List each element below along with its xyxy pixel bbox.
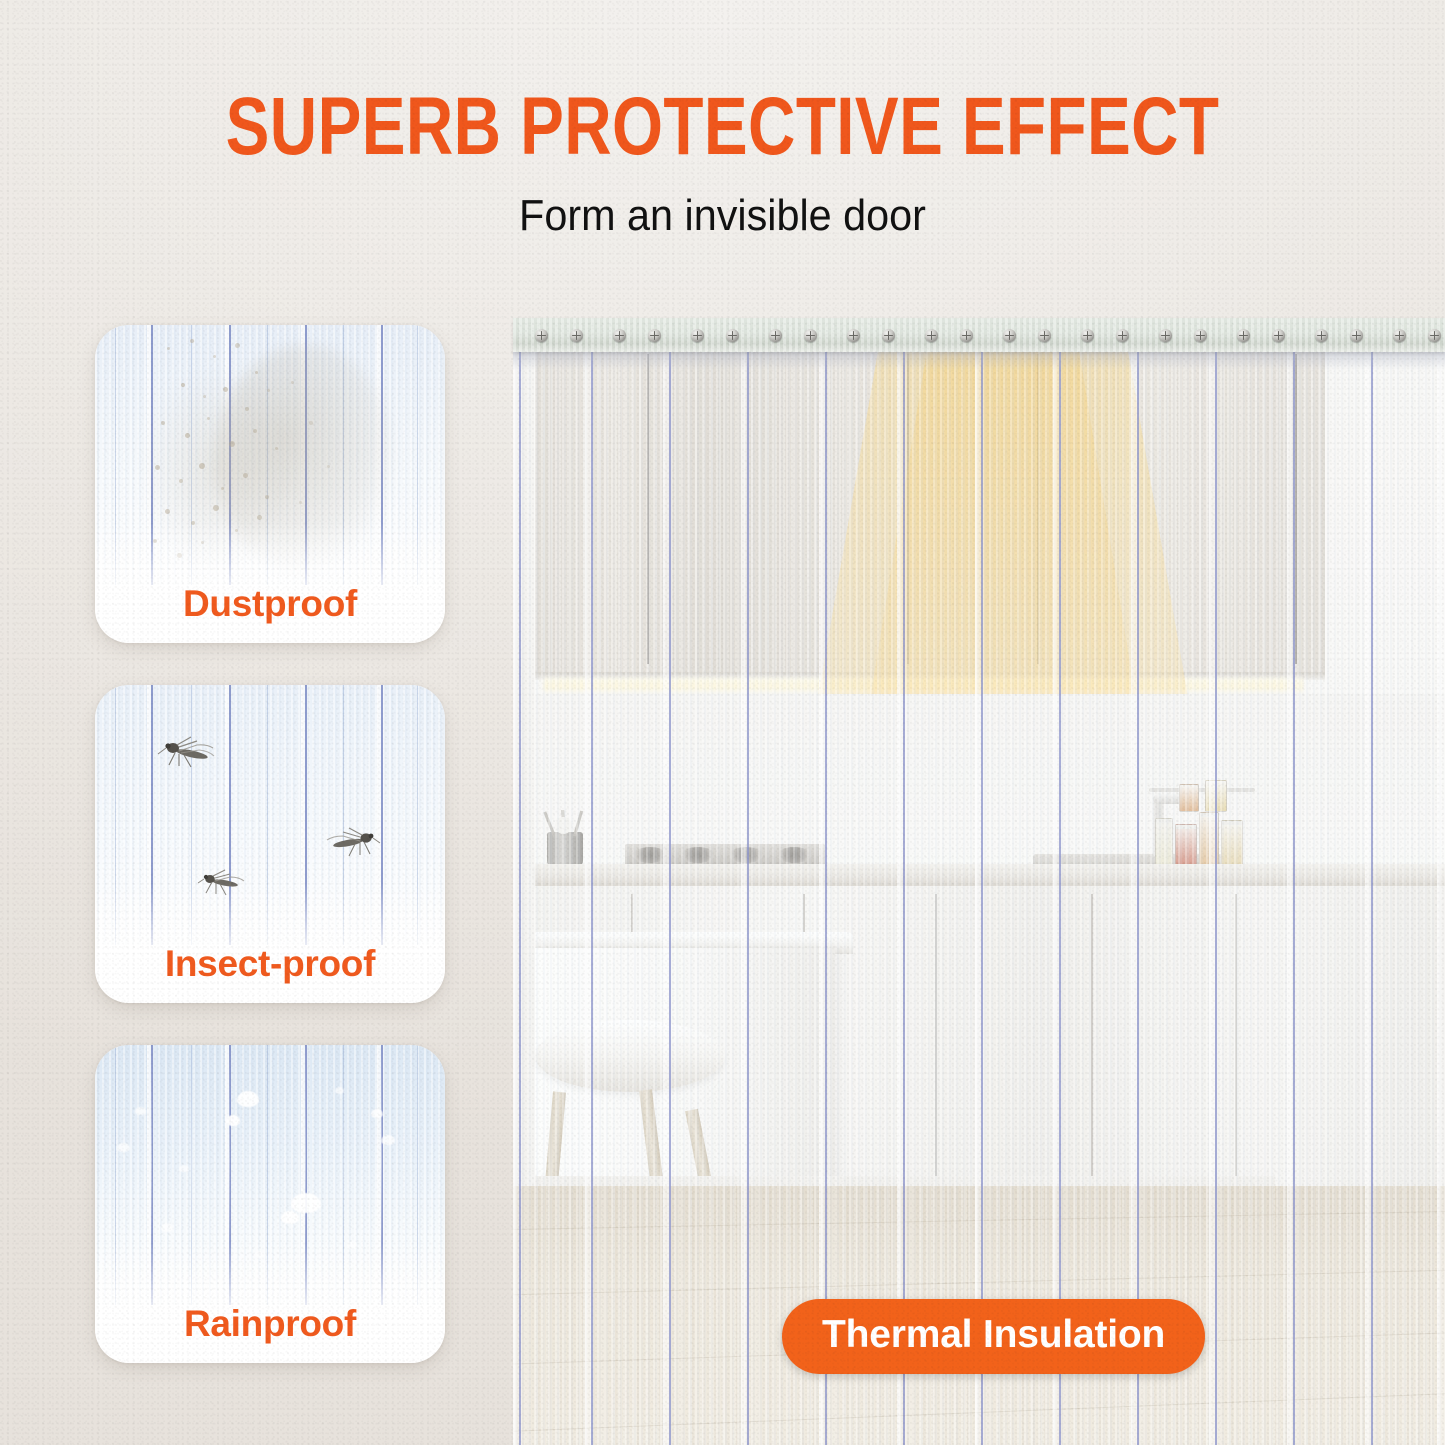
kitchen-scene	[513, 320, 1445, 1445]
rail-shadow	[513, 352, 1445, 370]
header: SUPERB PROTECTIVE EFFECT Form an invisib…	[0, 0, 1445, 290]
feature-card-list: Dustproof	[95, 325, 445, 1405]
feature-card-label-rainproof: Rainproof	[95, 1303, 445, 1345]
screw-icon	[1194, 329, 1207, 342]
kitchen-room	[513, 320, 1445, 1445]
screw-icon	[1081, 329, 1094, 342]
mosquito-icon	[323, 825, 381, 859]
screw-icon	[804, 329, 817, 342]
screw-icon	[769, 329, 782, 342]
mounting-rail	[513, 318, 1445, 352]
feature-card-rainproof[interactable]: Rainproof	[95, 1045, 445, 1363]
screw-icon	[1315, 329, 1328, 342]
screw-icon	[1003, 329, 1016, 342]
screw-icon	[1393, 329, 1406, 342]
screw-icon	[960, 329, 973, 342]
screw-icon	[691, 329, 704, 342]
utensil-holder	[543, 814, 587, 866]
screw-icon	[847, 329, 860, 342]
mosquito-icon	[157, 735, 217, 769]
screw-icon	[570, 329, 583, 342]
screw-icon	[882, 329, 895, 342]
screw-icon	[613, 329, 626, 342]
backsplash	[535, 694, 1445, 864]
thermal-insulation-badge[interactable]: Thermal Insulation	[782, 1299, 1205, 1374]
screw-icon	[1272, 329, 1285, 342]
feature-card-insect-proof[interactable]: Insect-proof	[95, 685, 445, 1003]
screw-icon	[535, 329, 548, 342]
screw-icon	[1116, 329, 1129, 342]
screw-icon	[726, 329, 739, 342]
screw-icon	[1428, 329, 1441, 342]
page-title: SUPERB PROTECTIVE EFFECT	[145, 0, 1301, 167]
screw-icon	[648, 329, 661, 342]
screw-icon	[1159, 329, 1172, 342]
feature-card-label-insect-proof: Insect-proof	[95, 943, 445, 985]
screw-icon	[1038, 329, 1051, 342]
feature-card-dustproof[interactable]: Dustproof	[95, 325, 445, 643]
gas-hob	[625, 844, 825, 866]
screw-icon	[925, 329, 938, 342]
feature-card-label-dustproof: Dustproof	[95, 583, 445, 625]
screw-icon	[1237, 329, 1250, 342]
stool-seat	[535, 1020, 725, 1092]
page-subtitle: Form an invisible door	[43, 167, 1401, 241]
countertop	[535, 864, 1445, 886]
screw-icon	[1350, 329, 1363, 342]
spice-jar-rack	[1149, 788, 1255, 866]
